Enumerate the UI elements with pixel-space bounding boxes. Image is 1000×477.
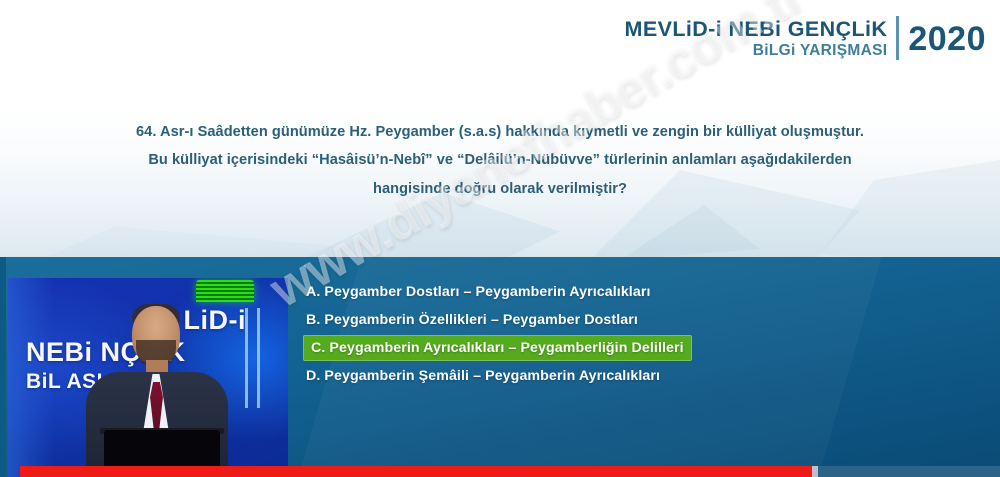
logo-title-line2: BiLGi YARIŞMASI <box>625 43 888 59</box>
logo-year: 2020 <box>908 22 986 56</box>
question-line-2: Bu külliyat içerisindeki “Hasâisü’n-Nebî… <box>80 146 920 174</box>
answer-option-d[interactable]: D. Peygamberin Şemâili – Peygamberin Ayr… <box>306 363 786 389</box>
question-text: 64. Asr-ı Saâdetten günümüze Hz. Peygamb… <box>80 118 920 203</box>
answer-options-list: A. Peygamber Dostları – Peygamberin Ayrı… <box>306 279 786 391</box>
logo-title-line1: MEVLiD-i NEBi GENÇLiK <box>625 19 888 41</box>
bottom-red-bar <box>20 466 812 477</box>
panel-left-edge <box>0 257 6 477</box>
answer-option-row: D. Peygamberin Şemâili – Peygamberin Ayr… <box>306 363 786 391</box>
answer-option-row: A. Peygamber Dostları – Peygamberin Ayrı… <box>306 279 786 307</box>
inset-backdrop-bars <box>245 308 260 408</box>
background-facet <box>620 205 760 257</box>
broadcast-screen: MEVLiD-i NEBi GENÇLiK BiLGi YARIŞMASI 20… <box>0 0 1000 477</box>
logo-wordmark: MEVLiD-i NEBi GENÇLiK BiLGi YARIŞMASI <box>625 19 888 59</box>
inset-green-graphic <box>196 280 254 302</box>
answer-option-b[interactable]: B. Peygamberin Özellikleri – Peygamber D… <box>306 307 786 333</box>
answer-option-row: B. Peygamberin Özellikleri – Peygamber D… <box>306 307 786 335</box>
program-logo: MEVLiD-i NEBi GENÇLiK BiLGi YARIŞMASI 20… <box>625 16 986 62</box>
presenter-video-inset[interactable]: LiD-i NEBi NÇLiK BiL ASI <box>8 278 288 477</box>
answer-option-c[interactable]: C. Peygamberin Ayrıcalıkları – Peygamber… <box>303 335 692 361</box>
logo-divider <box>896 16 899 60</box>
question-line-1: 64. Asr-ı Saâdetten günümüze Hz. Peygamb… <box>80 118 920 146</box>
answer-option-a[interactable]: A. Peygamber Dostları – Peygamberin Ayrı… <box>306 279 786 305</box>
answers-panel: LiD-i NEBi NÇLiK BiL ASI A. Peygamber Do… <box>0 257 1000 477</box>
answer-option-row: C. Peygamberin Ayrıcalıkları – Peygamber… <box>306 335 786 363</box>
question-line-3: hangisinde doğru olarak verilmiştir? <box>80 175 920 203</box>
bottom-blue-strip <box>818 466 1000 477</box>
question-area: MEVLiD-i NEBi GENÇLiK BiLGi YARIŞMASI 20… <box>0 0 1000 257</box>
background-facet <box>40 215 340 257</box>
